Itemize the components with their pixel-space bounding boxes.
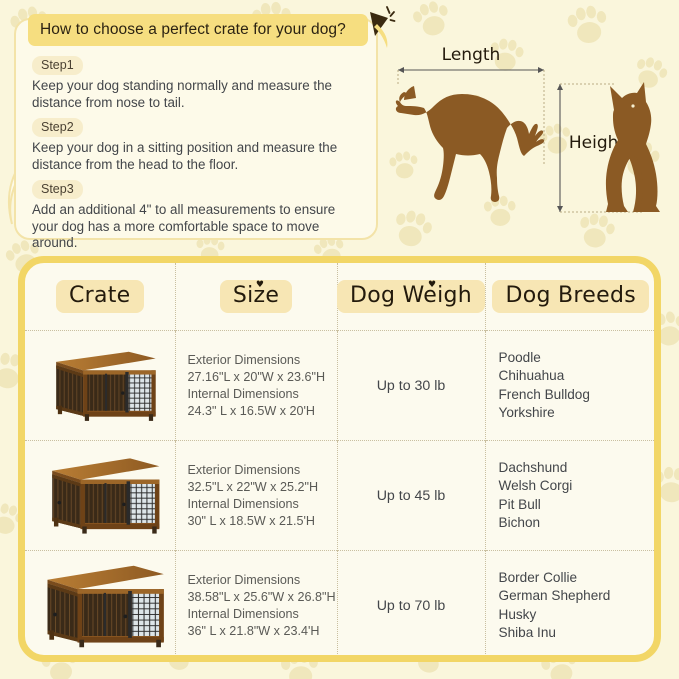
dog-breeds-cell: Poodle Chihuahua French Bulldog Yorkshir… [485,331,656,441]
internal-dimensions-value: 36" L x 21.8"W x 23.4'H [188,623,337,640]
large-wooden-dog-crate-icon [34,561,166,651]
breed-item: Shiba Inu [499,624,657,643]
column-header-label: Dog Weigh ♥ [337,280,485,313]
crate-size-cell: Exterior Dimensions 32.5"L x 22"W x 25.2… [175,441,337,551]
table-row: Exterior Dimensions 27.16"L x 20"W x 23.… [25,331,656,441]
dog-weight-cell: Up to 45 lb [337,441,485,551]
breed-item: Husky [499,606,657,625]
instruction-steps-list: Step1 Keep your dog standing normally an… [16,56,376,259]
step-description: Keep your dog in a sitting position and … [32,140,362,173]
column-header-dog-weigh: Dog Weigh ♥ [337,263,485,331]
instructions-title-banner: How to choose a perfect crate for your d… [28,14,368,46]
breed-item: Dachshund [499,459,657,478]
breed-item: Poodle [499,349,657,368]
crate-size-cell: Exterior Dimensions 27.16"L x 20"W x 23.… [175,331,337,441]
medium-wooden-dog-crate-icon [38,453,162,538]
table-row: Exterior Dimensions 32.5"L x 22"W x 25.2… [25,441,656,551]
internal-dimensions-label: Internal Dimensions [188,496,337,513]
column-header-label: Size ♥ [220,280,292,313]
exterior-dimensions-value: 27.16"L x 20"W x 23.6"H [188,369,337,386]
step-badge: Step3 [32,180,83,199]
crate-image-cell [25,331,175,441]
heart-accent-icon: ♥ [428,281,436,290]
column-header-crate: Crate [25,263,175,331]
instruction-step: Step1 Keep your dog standing normally an… [32,56,362,111]
breed-item: Yorkshire [499,404,657,423]
standing-dog-silhouette [396,86,544,202]
instruction-step: Step3 Add an additional 4" to all measur… [32,180,362,252]
breed-item: Welsh Corgi [499,477,657,496]
column-header-dog-breeds: Dog Breeds [485,263,656,331]
breed-item: German Shepherd [499,587,657,606]
instruction-step: Step2 Keep your dog in a sitting positio… [32,118,362,173]
internal-dimensions-value: 24.3" L x 16.5W x 20'H [188,403,337,420]
step-badge: Step2 [32,118,83,137]
table-header-row: Crate Size ♥ Dog Weigh ♥ [25,263,656,331]
small-wooden-dog-crate-icon [41,345,159,426]
column-header-label: Crate [56,280,144,313]
column-header-size: Size ♥ [175,263,337,331]
step-description: Add an additional 4" to all measurements… [32,202,362,252]
internal-dimensions-value: 30" L x 18.5W x 21.5'H [188,513,337,530]
crate-comparison-table-card: Crate Size ♥ Dog Weigh ♥ [18,256,661,662]
length-label: Length [442,45,501,65]
exterior-dimensions-value: 38.58"L x 25.6"W x 26.8"H [188,589,337,606]
breed-item: Border Collie [499,569,657,588]
column-header-text: Dog Weigh [350,283,472,308]
instructions-title-text: How to choose a perfect crate for your d… [40,21,346,39]
internal-dimensions-label: Internal Dimensions [188,606,337,623]
exterior-dimensions-label: Exterior Dimensions [188,462,337,479]
crate-size-cell: Exterior Dimensions 38.58"L x 25.6"W x 2… [175,551,337,661]
breed-item: Chihuahua [499,367,657,386]
internal-dimensions-label: Internal Dimensions [188,386,337,403]
exterior-dimensions-label: Exterior Dimensions [188,352,337,369]
exterior-dimensions-label: Exterior Dimensions [188,572,337,589]
instructions-card: How to choose a perfect crate for your d… [14,18,378,240]
dog-weight-cell: Up to 30 lb [337,331,485,441]
dog-breeds-cell: Dachshund Welsh Corgi Pit Bull Bichon [485,441,656,551]
exterior-dimensions-value: 32.5"L x 22"W x 25.2"H [188,479,337,496]
step-badge: Step1 [32,56,83,75]
dog-breeds-cell: Border Collie German Shepherd Husky Shib… [485,551,656,661]
table-row: Exterior Dimensions 38.58"L x 25.6"W x 2… [25,551,656,661]
breed-item: Pit Bull [499,496,657,515]
crate-image-cell [25,441,175,551]
crate-image-cell [25,551,175,661]
dog-measurement-diagram: Length Height [392,36,668,246]
step-description: Keep your dog standing normally and meas… [32,78,362,111]
dog-weight-cell: Up to 70 lb [337,551,485,661]
breed-item: Bichon [499,514,657,533]
column-header-label: Dog Breeds [492,280,649,313]
crate-comparison-table: Crate Size ♥ Dog Weigh ♥ [25,263,656,660]
breed-item: French Bulldog [499,386,657,405]
heart-accent-icon: ♥ [256,281,264,290]
